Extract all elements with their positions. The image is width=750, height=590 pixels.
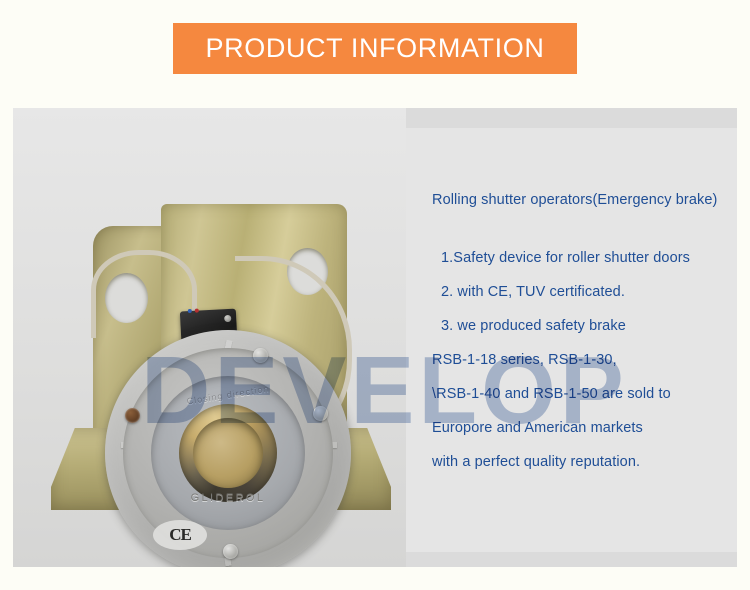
product-brand-label: GLIDEROL (105, 492, 351, 504)
product-image: Closing direction GLIDEROL CE (13, 108, 406, 567)
page-header-banner: PRODUCT INFORMATION (173, 23, 577, 74)
info-line-4: RSB-1-18 series, RSB-1-30, (432, 343, 728, 377)
switch-terminal-blue (188, 309, 192, 313)
switch-screw-top (224, 315, 231, 322)
info-line-6: Europore and American markets (432, 411, 728, 445)
product-info-panel: Rolling shutter operators(Emergency brak… (406, 128, 737, 552)
switch-terminal-red (195, 309, 199, 313)
housing-bolt-top (253, 348, 268, 363)
ce-mark-icon: CE (153, 520, 207, 550)
page-title: PRODUCT INFORMATION (206, 35, 545, 62)
info-line-2: 2. with CE, TUV certificated. (432, 275, 728, 309)
info-line-1: 1.Safety device for roller shutter doors (432, 241, 728, 275)
info-line-3: 3. we produced safety brake (432, 309, 728, 343)
content-panel: Closing direction GLIDEROL CE Rolling sh… (13, 108, 737, 567)
brass-bore-hole (193, 418, 263, 488)
cable-loop-icon (91, 250, 197, 321)
info-spacer (432, 217, 728, 241)
info-line-5: \RSB-1-40 and RSB-1-50 are sold to (432, 377, 728, 411)
cable-tail-icon (91, 304, 96, 338)
housing-bolt-right (313, 406, 328, 421)
product-info-text-block: Rolling shutter operators(Emergency brak… (432, 183, 728, 479)
product-info-heading: Rolling shutter operators(Emergency brak… (432, 183, 728, 217)
info-line-7: with a perfect quality reputation. (432, 445, 728, 479)
housing-bolt-left (125, 408, 140, 423)
brake-housing: Closing direction GLIDEROL CE (105, 330, 351, 567)
housing-bolt-bottom (223, 544, 238, 559)
